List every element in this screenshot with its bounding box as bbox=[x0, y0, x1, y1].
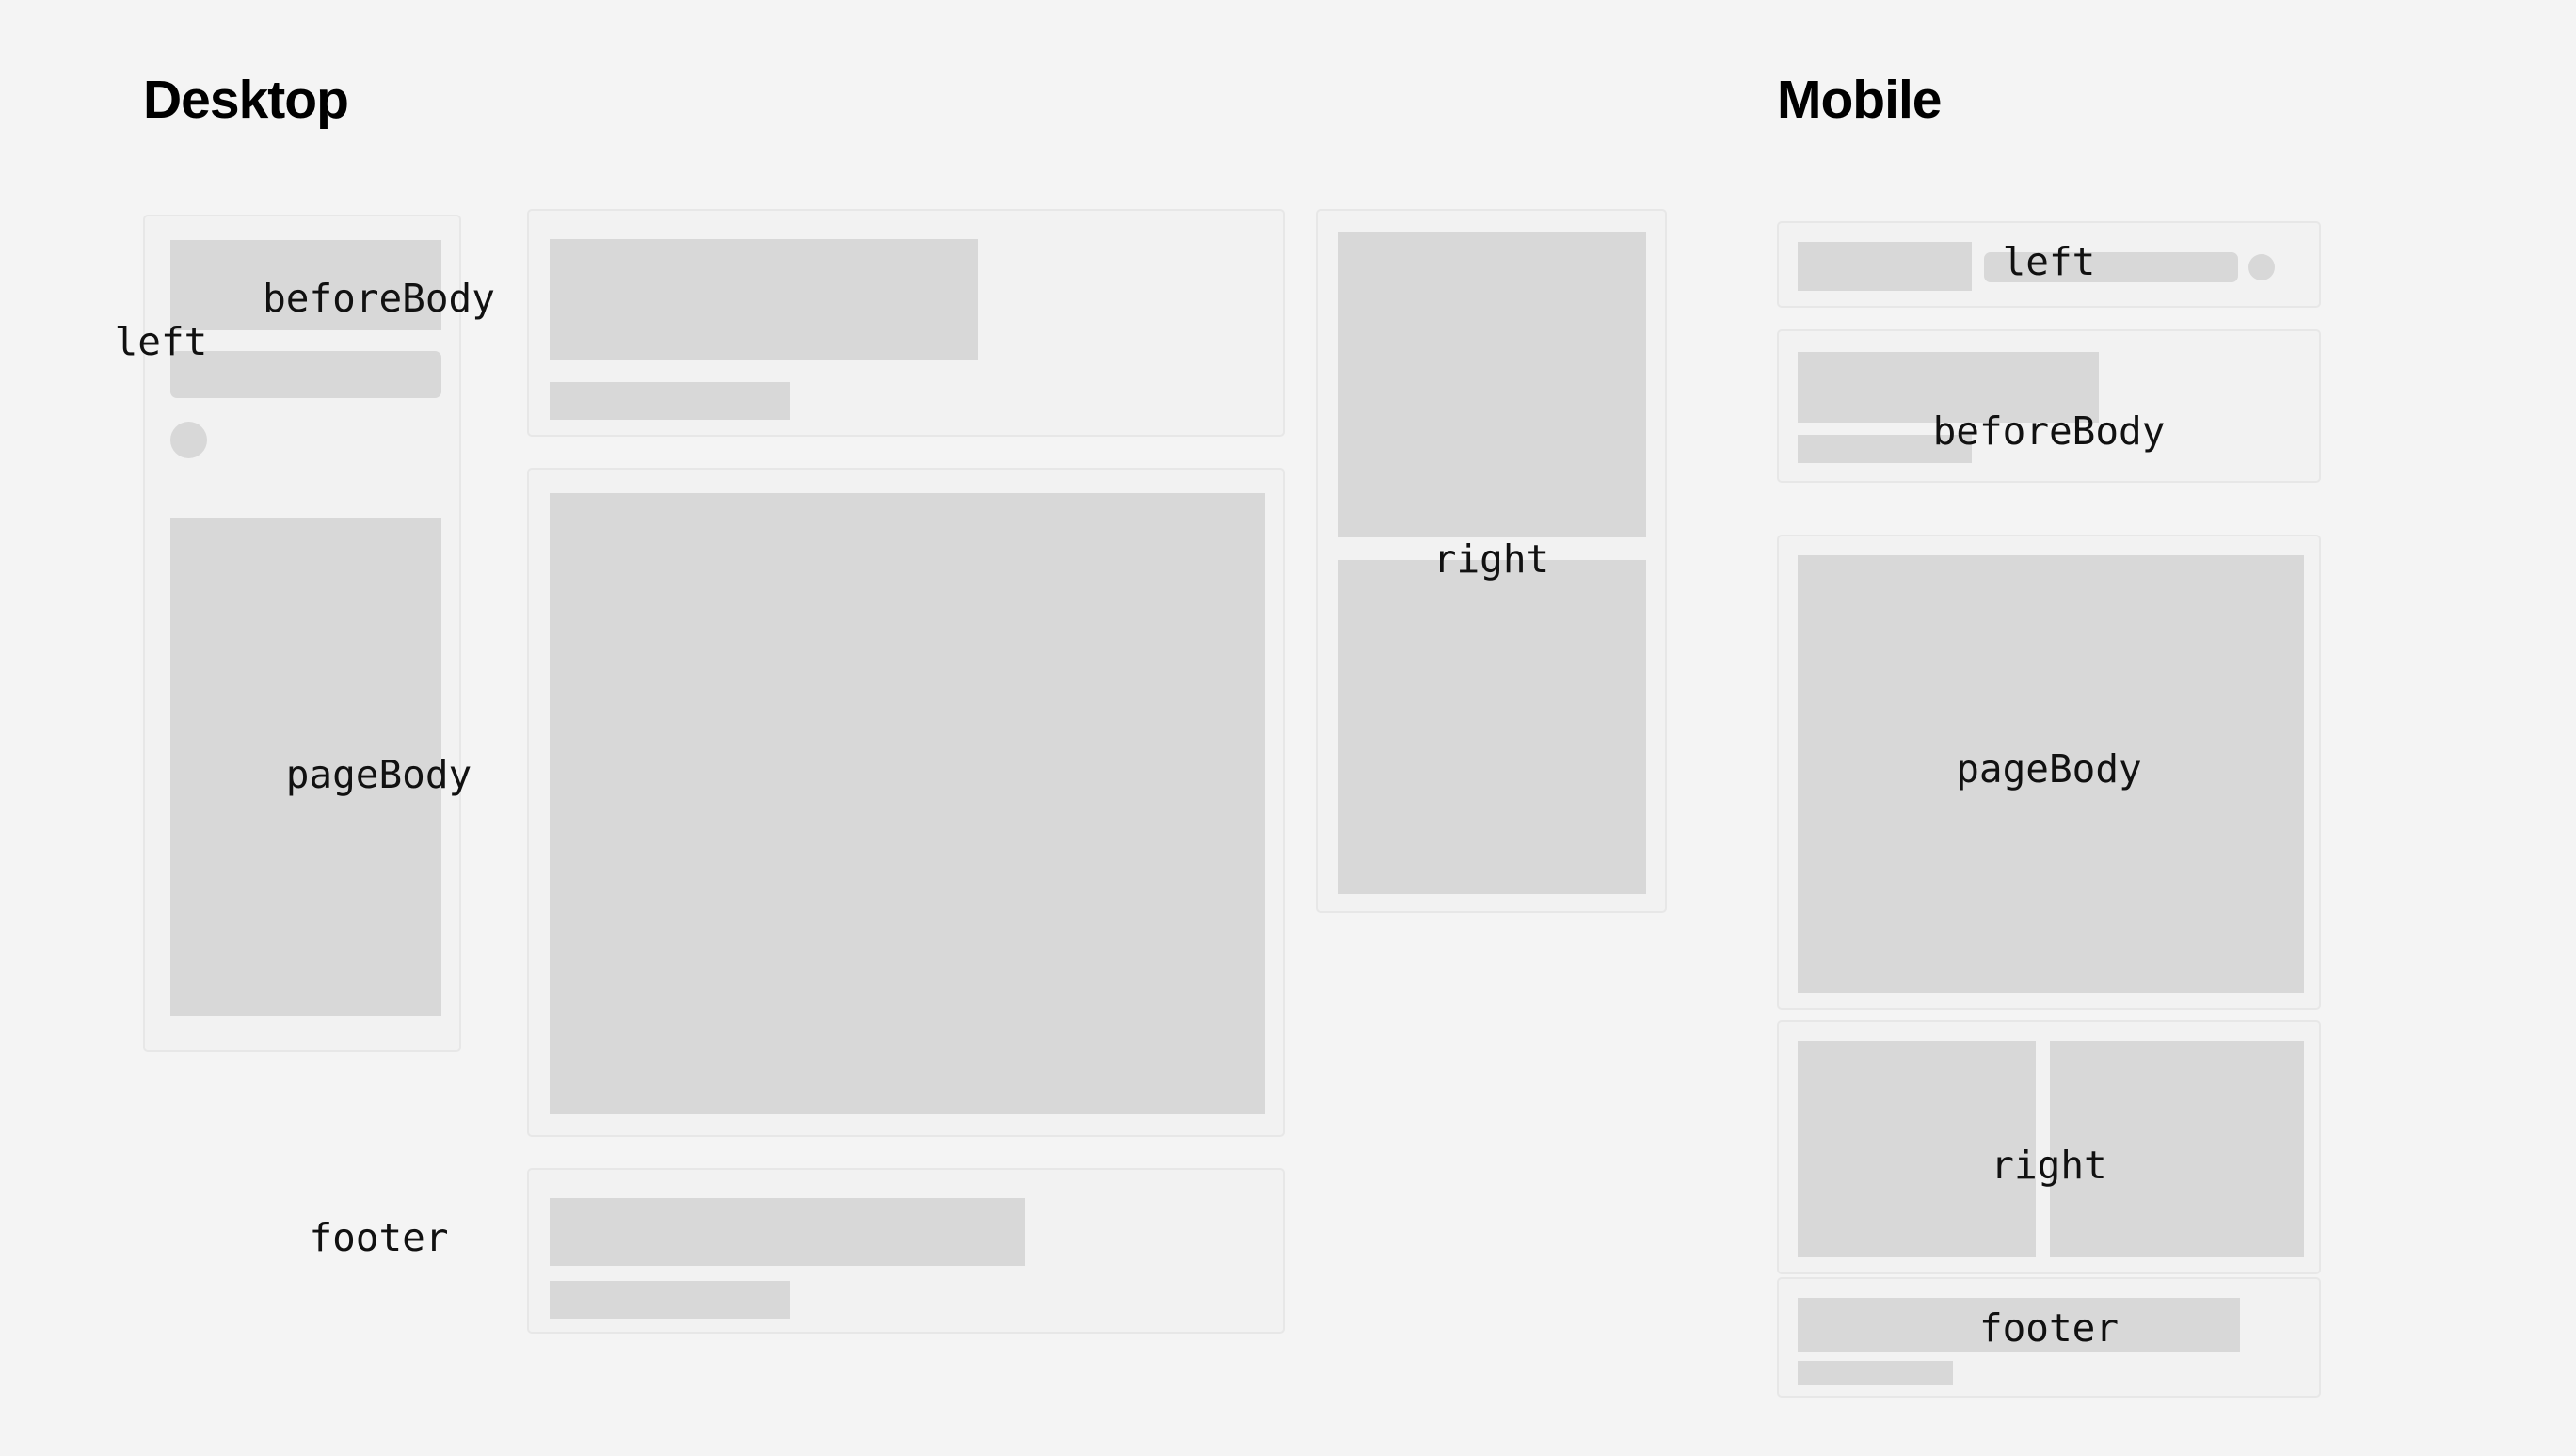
placeholder-bar bbox=[550, 1281, 790, 1319]
placeholder-block bbox=[1338, 560, 1646, 894]
placeholder-block-tall bbox=[170, 518, 441, 1016]
desktop-pagebody-panel[interactable] bbox=[527, 468, 1285, 1137]
desktop-column-title: Desktop bbox=[143, 73, 348, 127]
placeholder-block bbox=[1798, 352, 2099, 423]
desktop-beforebody-panel[interactable] bbox=[527, 209, 1285, 437]
mobile-right-panel[interactable] bbox=[1777, 1020, 2321, 1274]
placeholder-block bbox=[1798, 242, 1972, 291]
placeholder-block bbox=[1338, 232, 1646, 537]
mobile-footer-panel[interactable] bbox=[1777, 1277, 2321, 1398]
placeholder-block bbox=[550, 1198, 1025, 1266]
placeholder-bar bbox=[550, 382, 790, 420]
placeholder-bar bbox=[1798, 435, 1972, 463]
mobile-column-title: Mobile bbox=[1777, 73, 1942, 127]
placeholder-bar bbox=[1984, 252, 2238, 282]
mobile-beforebody-panel[interactable] bbox=[1777, 329, 2321, 483]
placeholder-block bbox=[170, 240, 441, 330]
wireframe-canvas: Desktop left beforeBody pageBody footer … bbox=[0, 0, 2576, 1456]
placeholder-block bbox=[1798, 1298, 2240, 1352]
placeholder-block bbox=[550, 493, 1265, 1114]
mobile-left-panel[interactable] bbox=[1777, 221, 2321, 308]
placeholder-circle-icon bbox=[170, 422, 207, 458]
placeholder-block bbox=[550, 239, 978, 360]
placeholder-block bbox=[1798, 555, 2304, 993]
desktop-footer-panel[interactable] bbox=[527, 1168, 1285, 1334]
desktop-left-panel[interactable] bbox=[143, 215, 461, 1052]
placeholder-bar bbox=[170, 351, 441, 398]
placeholder-bar bbox=[1798, 1361, 1953, 1385]
desktop-right-panel[interactable] bbox=[1316, 209, 1667, 913]
placeholder-block bbox=[2050, 1041, 2304, 1257]
placeholder-circle-icon bbox=[2248, 254, 2275, 280]
placeholder-block bbox=[1798, 1041, 2036, 1257]
mobile-pagebody-panel[interactable] bbox=[1777, 535, 2321, 1010]
